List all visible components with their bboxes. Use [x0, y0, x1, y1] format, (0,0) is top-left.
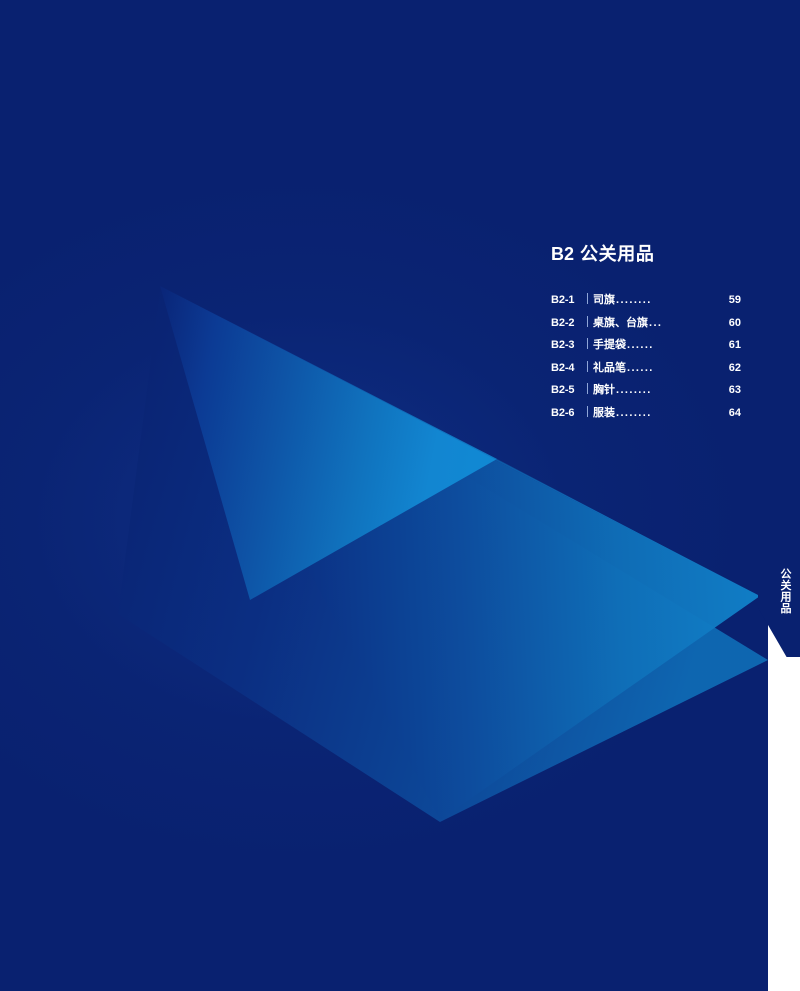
toc-entry-label: 服装 [593, 402, 615, 425]
toc-leader-dots: ... [649, 312, 728, 335]
section-title: 公关用品 [580, 244, 654, 264]
side-index-tab-label: 公关用品 [774, 568, 792, 614]
toc-entry-b2-1[interactable]: B2-1 司旗 ........ 59 [551, 289, 741, 312]
toc-separator-icon [587, 406, 588, 417]
toc-entry-label: 桌旗、台旗 [593, 312, 648, 335]
toc-entry-page: 64 [729, 402, 741, 425]
toc-leader-dots: ...... [627, 334, 728, 357]
toc-entry-code: B2-4 [551, 357, 583, 380]
toc-entry-page: 59 [729, 289, 741, 312]
toc-separator-icon [587, 293, 588, 304]
toc-leader-dots: ...... [627, 357, 728, 380]
side-index-tab[interactable] [758, 0, 800, 657]
toc-leader-dots: ........ [616, 379, 728, 402]
toc-leader-dots: ........ [616, 402, 728, 425]
toc-separator-icon [587, 361, 588, 372]
toc-entry-code: B2-2 [551, 312, 583, 335]
toc-entry-b2-5[interactable]: B2-5 胸针 ........ 63 [551, 379, 741, 402]
toc-entry-b2-2[interactable]: B2-2 桌旗、台旗 ... 60 [551, 312, 741, 335]
toc-entry-code: B2-1 [551, 289, 583, 312]
chevron-arrow-graphic [0, 0, 768, 991]
toc-separator-icon [587, 338, 588, 349]
toc-entry-label: 礼品笔 [593, 357, 626, 380]
page-title: B2公关用品 [551, 240, 741, 266]
toc-entry-page: 61 [729, 334, 741, 357]
toc-separator-icon [587, 383, 588, 394]
toc-entry-page: 62 [729, 357, 741, 380]
toc-leader-dots: ........ [616, 289, 728, 312]
toc-entry-label: 手提袋 [593, 334, 626, 357]
toc-entry-page: 63 [729, 379, 741, 402]
section-table-of-contents: B2公关用品 B2-1 司旗 ........ 59 B2-2 桌旗、台旗 ..… [551, 240, 741, 424]
section-code: B2 [551, 244, 574, 264]
toc-entry-code: B2-5 [551, 379, 583, 402]
toc-entry-label: 司旗 [593, 289, 615, 312]
toc-entry-page: 60 [729, 312, 741, 335]
toc-entry-b2-4[interactable]: B2-4 礼品笔 ...... 62 [551, 357, 741, 380]
toc-entry-code: B2-3 [551, 334, 583, 357]
toc-separator-icon [587, 316, 588, 327]
toc-entry-label: 胸针 [593, 379, 615, 402]
toc-entry-b2-6[interactable]: B2-6 服装 ........ 64 [551, 402, 741, 425]
catalog-section-divider-page: B2公关用品 B2-1 司旗 ........ 59 B2-2 桌旗、台旗 ..… [0, 0, 800, 991]
toc-entry-code: B2-6 [551, 402, 583, 425]
page-blue-body: B2公关用品 B2-1 司旗 ........ 59 B2-2 桌旗、台旗 ..… [0, 0, 768, 991]
toc-entry-b2-3[interactable]: B2-3 手提袋 ...... 61 [551, 334, 741, 357]
toc-list: B2-1 司旗 ........ 59 B2-2 桌旗、台旗 ... 60 B2… [551, 289, 741, 424]
